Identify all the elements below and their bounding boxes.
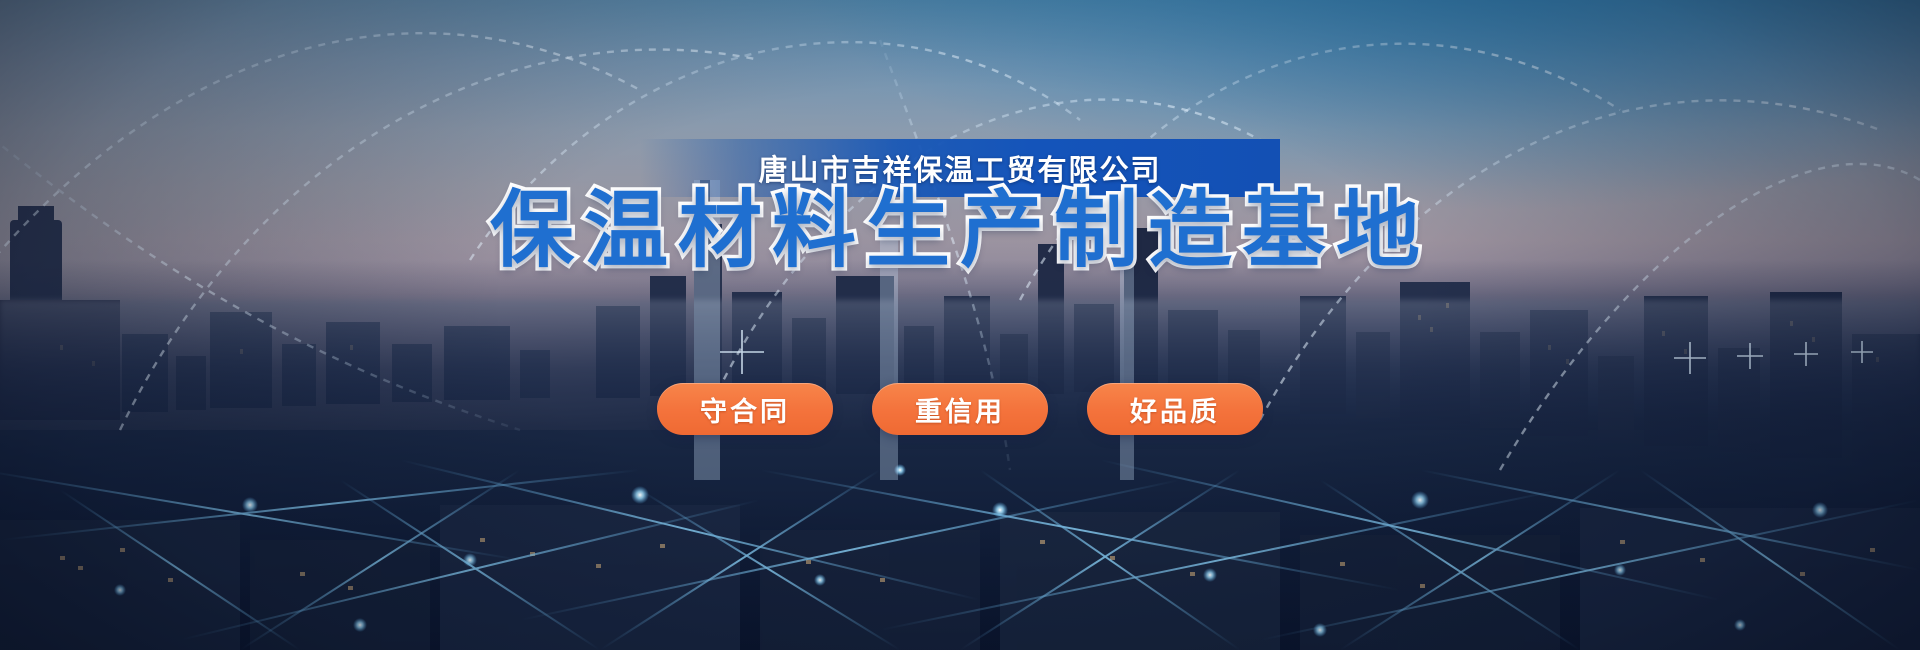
feature-tag-label: 好品质: [1130, 390, 1220, 429]
feature-tag-label: 守合同: [700, 390, 790, 429]
feature-tag-2[interactable]: 好品质: [1087, 383, 1263, 435]
feature-tag-1[interactable]: 重信用: [872, 383, 1048, 435]
feature-tag-label: 重信用: [915, 390, 1005, 429]
page-title: 保温材料生产制造基地: [490, 186, 1430, 274]
headline-container: 保温材料生产制造基地: [0, 186, 1920, 274]
hero-banner: 唐山市吉祥保温工贸有限公司 保温材料生产制造基地 守合同 重信用 好品质: [0, 0, 1920, 650]
banner-content: 唐山市吉祥保温工贸有限公司 保温材料生产制造基地 守合同 重信用 好品质: [0, 0, 1920, 650]
feature-tag-0[interactable]: 守合同: [657, 383, 833, 435]
feature-tag-list: 守合同 重信用 好品质: [0, 383, 1920, 435]
